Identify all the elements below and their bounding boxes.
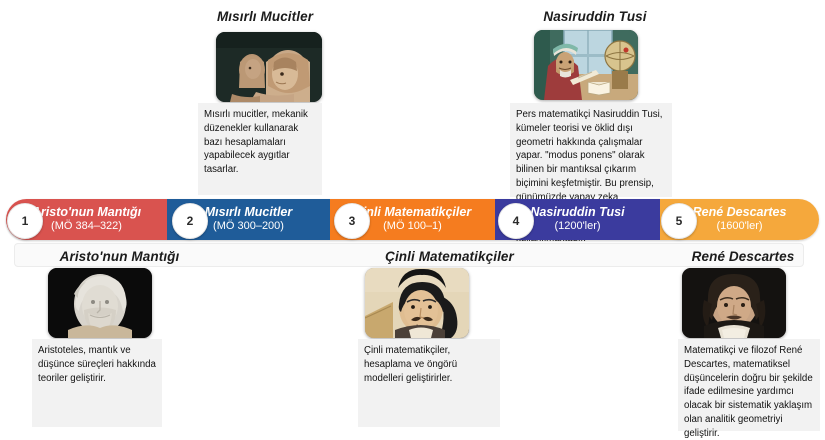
- top-card-title-nasiruddin-tusi: Nasiruddin Tusi: [510, 9, 680, 24]
- top-card-description-nasiruddin-tusi: Pers matematikçi Nasiruddin Tusi, kümele…: [510, 103, 672, 197]
- chinese-mathematician-portrait: [365, 268, 469, 338]
- bottom-card-title-chinese-mathematicians: Çinli Matematikçiler: [352, 249, 547, 264]
- bottom-card-description-rene-descartes: Matematikçi ve filozof René Descartes, m…: [678, 339, 820, 431]
- bottom-card-description-chinese-mathematicians: Çinli matematikçiler, hesaplama ve öngör…: [358, 339, 500, 427]
- timeline-marker-1[interactable]: 1: [7, 203, 43, 239]
- timeline-segment-5-date: (1600'ler): [716, 220, 762, 234]
- top-card-description-egyptian-inventors: Mısırlı mucitler, mekanik düzenekler kul…: [198, 103, 322, 195]
- rene-descartes-portrait: [682, 268, 786, 338]
- nasiruddin-tusi-painting: [534, 30, 638, 100]
- timeline-segment-4-date: (1200'ler): [554, 220, 600, 234]
- top-card-title-egyptian-inventors: Mısırlı Mucitler: [195, 9, 335, 24]
- bottom-card-title-rene-descartes: René Descartes: [668, 249, 818, 264]
- timeline-segment-1-date: (MÖ 384–322): [51, 220, 122, 234]
- timeline-segment-3-date: (MÖ 100–1): [383, 220, 442, 234]
- timeline-segment-4-label: Nasiruddin Tusi: [530, 206, 624, 219]
- timeline-segment-3-label: Çinli Matematikçiler: [354, 206, 471, 219]
- timeline-segment-2-date: (MÖ 300–200): [213, 220, 284, 234]
- aristotle-bust-photo: [48, 268, 152, 338]
- timeline-segment-2-label: Mısırlı Mucitler: [205, 206, 293, 219]
- timeline-segment-1-label: Aristo'nun Mantığı: [32, 206, 141, 219]
- bottom-card-title-aristotle: Aristo'nun Mantığı: [22, 249, 217, 264]
- timeline-segment-5-label: René Descartes: [693, 206, 787, 219]
- timeline-bar[interactable]: Aristo'nun Mantığı (MÖ 384–322) Mısırlı …: [6, 199, 819, 240]
- timeline-marker-5[interactable]: 5: [661, 203, 697, 239]
- timeline-marker-3[interactable]: 3: [334, 203, 370, 239]
- egyptian-statues-photo: [216, 32, 322, 102]
- bottom-card-description-aristotle: Aristoteles, mantık ve düşünce süreçleri…: [32, 339, 162, 427]
- timeline-marker-2[interactable]: 2: [172, 203, 208, 239]
- timeline-marker-4[interactable]: 4: [498, 203, 534, 239]
